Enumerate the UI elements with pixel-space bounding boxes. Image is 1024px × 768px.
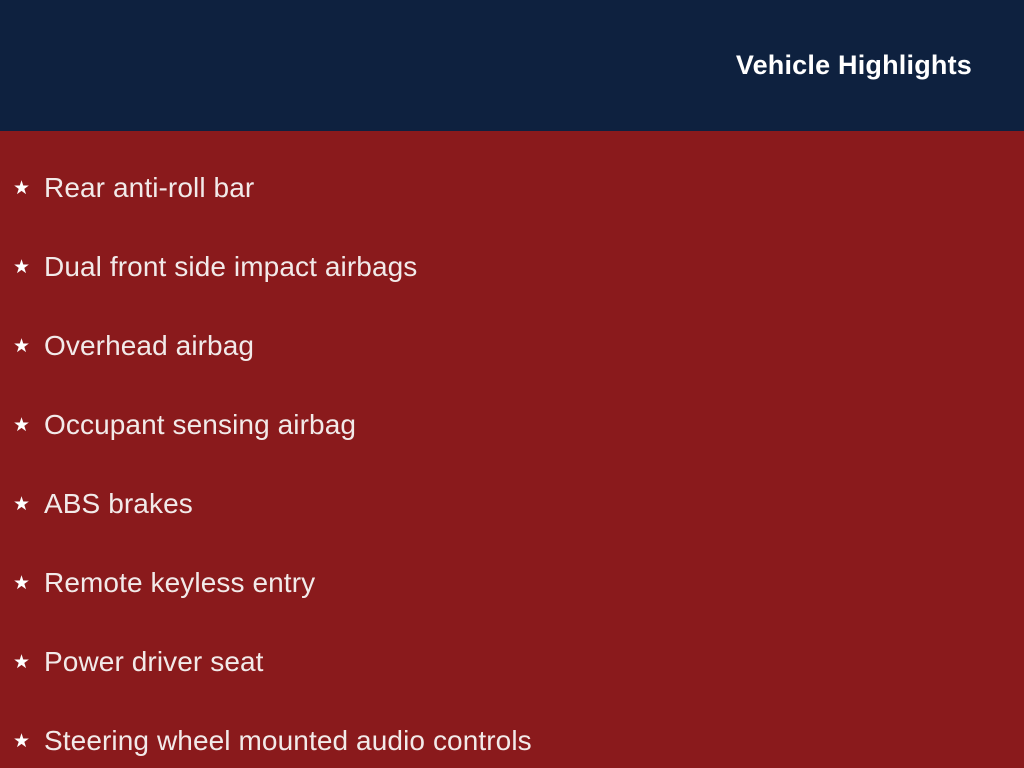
list-item: ★ ABS brakes [0, 465, 1024, 544]
list-item-label: Remote keyless entry [44, 568, 315, 599]
list-item: ★ Power driver seat [0, 623, 1024, 702]
slide-canvas: Vehicle Highlights ★ Rear anti-roll bar … [0, 0, 1024, 768]
list-item-label: Steering wheel mounted audio controls [44, 726, 532, 757]
list-item: ★ Dual front side impact airbags [0, 228, 1024, 307]
list-item-label: Rear anti-roll bar [44, 173, 254, 204]
list-item: ★ Steering wheel mounted audio controls [0, 702, 1024, 768]
star-icon: ★ [13, 574, 44, 593]
star-icon: ★ [13, 732, 44, 751]
slide-header-band: Vehicle Highlights [0, 0, 1024, 131]
list-item-label: Occupant sensing airbag [44, 410, 356, 441]
list-item: ★ Remote keyless entry [0, 544, 1024, 623]
star-icon: ★ [13, 258, 44, 277]
list-item-label: Dual front side impact airbags [44, 252, 417, 283]
list-item-label: Power driver seat [44, 647, 264, 678]
vehicle-highlights-list: ★ Rear anti-roll bar ★ Dual front side i… [0, 131, 1024, 768]
star-icon: ★ [13, 416, 44, 435]
star-icon: ★ [13, 495, 44, 514]
list-item-label: Overhead airbag [44, 331, 254, 362]
star-icon: ★ [13, 337, 44, 356]
star-icon: ★ [13, 653, 44, 672]
list-item: ★ Occupant sensing airbag [0, 386, 1024, 465]
list-item: ★ Rear anti-roll bar [0, 149, 1024, 228]
list-item-label: ABS brakes [44, 489, 193, 520]
star-icon: ★ [13, 179, 44, 198]
page-title: Vehicle Highlights [736, 50, 1024, 81]
list-item: ★ Overhead airbag [0, 307, 1024, 386]
